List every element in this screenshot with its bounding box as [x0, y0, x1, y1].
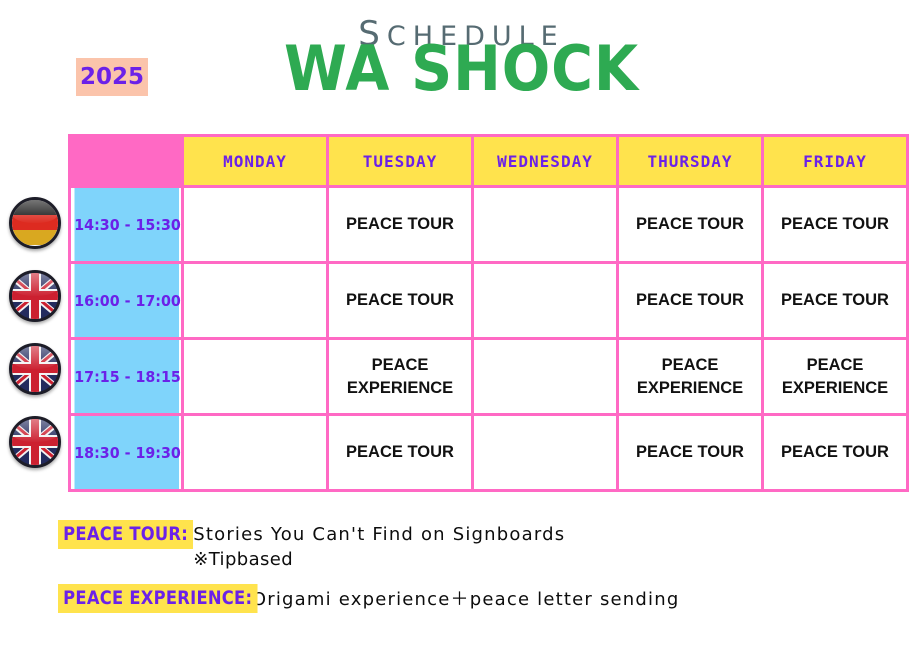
legend-row-peace-tour: PEACE TOUR: Stories You Can't Find on Si… [58, 520, 878, 570]
day-header-monday: MONDAY [183, 136, 328, 187]
flag-slot-row-4 [6, 405, 64, 478]
day-header-friday: FRIDAY [763, 136, 908, 187]
event-cell[interactable]: PEACE EXPERIENCE [328, 339, 473, 415]
flag-slot-row-1 [6, 186, 64, 259]
event-cell[interactable] [473, 187, 618, 263]
legend-desc-peace-tour: Stories You Can't Find on Signboards [193, 521, 565, 549]
united-kingdom-flag-icon [9, 343, 61, 395]
event-cell[interactable] [473, 263, 618, 339]
time-slot-label: 18:30 - 19:30 [72, 415, 179, 491]
event-cell[interactable]: PEACE TOUR [618, 187, 763, 263]
flag-column [6, 186, 64, 478]
event-cell[interactable] [183, 339, 328, 415]
legend-label-peace-tour: PEACE TOUR: [58, 520, 193, 549]
event-cell[interactable] [183, 187, 328, 263]
flag-slot-row-3 [6, 332, 64, 405]
legend-peace-tour-text: Stories You Can't Find on Signboards ※Ti… [193, 521, 565, 570]
year-badge: 2025 [76, 58, 148, 96]
event-cell[interactable] [183, 263, 328, 339]
table-row: 17:15 - 18:15 PEACE EXPERIENCE PEACE EXP… [70, 339, 908, 415]
time-slot-label: 16:00 - 17:00 [72, 263, 179, 339]
day-header-tuesday: TUESDAY [328, 136, 473, 187]
event-cell[interactable]: PEACE TOUR [328, 415, 473, 491]
brand-logo: WA SHOCK [37, 38, 886, 100]
day-header-wednesday: WEDNESDAY [473, 136, 618, 187]
time-slot-label: 17:15 - 18:15 [72, 339, 179, 415]
table-row: 16:00 - 17:00 PEACE TOUR PEACE TOUR PEAC… [70, 263, 908, 339]
time-slot-label: 14:30 - 15:30 [72, 187, 179, 263]
event-cell[interactable]: PEACE TOUR [328, 263, 473, 339]
event-cell[interactable] [473, 415, 618, 491]
event-cell[interactable]: PEACE TOUR [763, 263, 908, 339]
day-header-thursday: THURSDAY [618, 136, 763, 187]
event-cell[interactable] [183, 415, 328, 491]
event-cell[interactable]: PEACE EXPERIENCE [763, 339, 908, 415]
event-cell[interactable]: PEACE TOUR [763, 415, 908, 491]
table-row: 14:30 - 15:30 PEACE TOUR PEACE TOUR PEAC… [70, 187, 908, 263]
event-cell[interactable]: PEACE EXPERIENCE [618, 339, 763, 415]
event-cell[interactable]: PEACE TOUR [618, 263, 763, 339]
flag-slot-row-2 [6, 259, 64, 332]
legend-desc-peace-experience: Origami experience＋peace letter sending [252, 586, 680, 614]
table-header-row: MONDAY TUESDAY WEDNESDAY THURSDAY FRIDAY [70, 136, 908, 187]
schedule-table: MONDAY TUESDAY WEDNESDAY THURSDAY FRIDAY… [68, 134, 909, 492]
table-row: 18:30 - 19:30 PEACE TOUR PEACE TOUR PEAC… [70, 415, 908, 491]
legend-note-tipbased: ※Tipbased [193, 549, 565, 570]
event-cell[interactable]: PEACE TOUR [763, 187, 908, 263]
united-kingdom-flag-icon [9, 416, 61, 468]
page-header: SCHEDULE WA SHOCK 2025 [0, 0, 923, 125]
legend-row-peace-experience: PEACE EXPERIENCE: Origami experience＋pea… [58, 584, 878, 614]
legend-label-peace-experience: PEACE EXPERIENCE: [58, 584, 257, 613]
united-kingdom-flag-icon [9, 270, 61, 322]
germany-flag-icon [9, 197, 61, 249]
event-cell[interactable] [473, 339, 618, 415]
event-cell[interactable]: PEACE TOUR [328, 187, 473, 263]
legend: PEACE TOUR: Stories You Can't Find on Si… [58, 520, 878, 618]
table-corner-cell [70, 136, 183, 187]
event-cell[interactable]: PEACE TOUR [618, 415, 763, 491]
